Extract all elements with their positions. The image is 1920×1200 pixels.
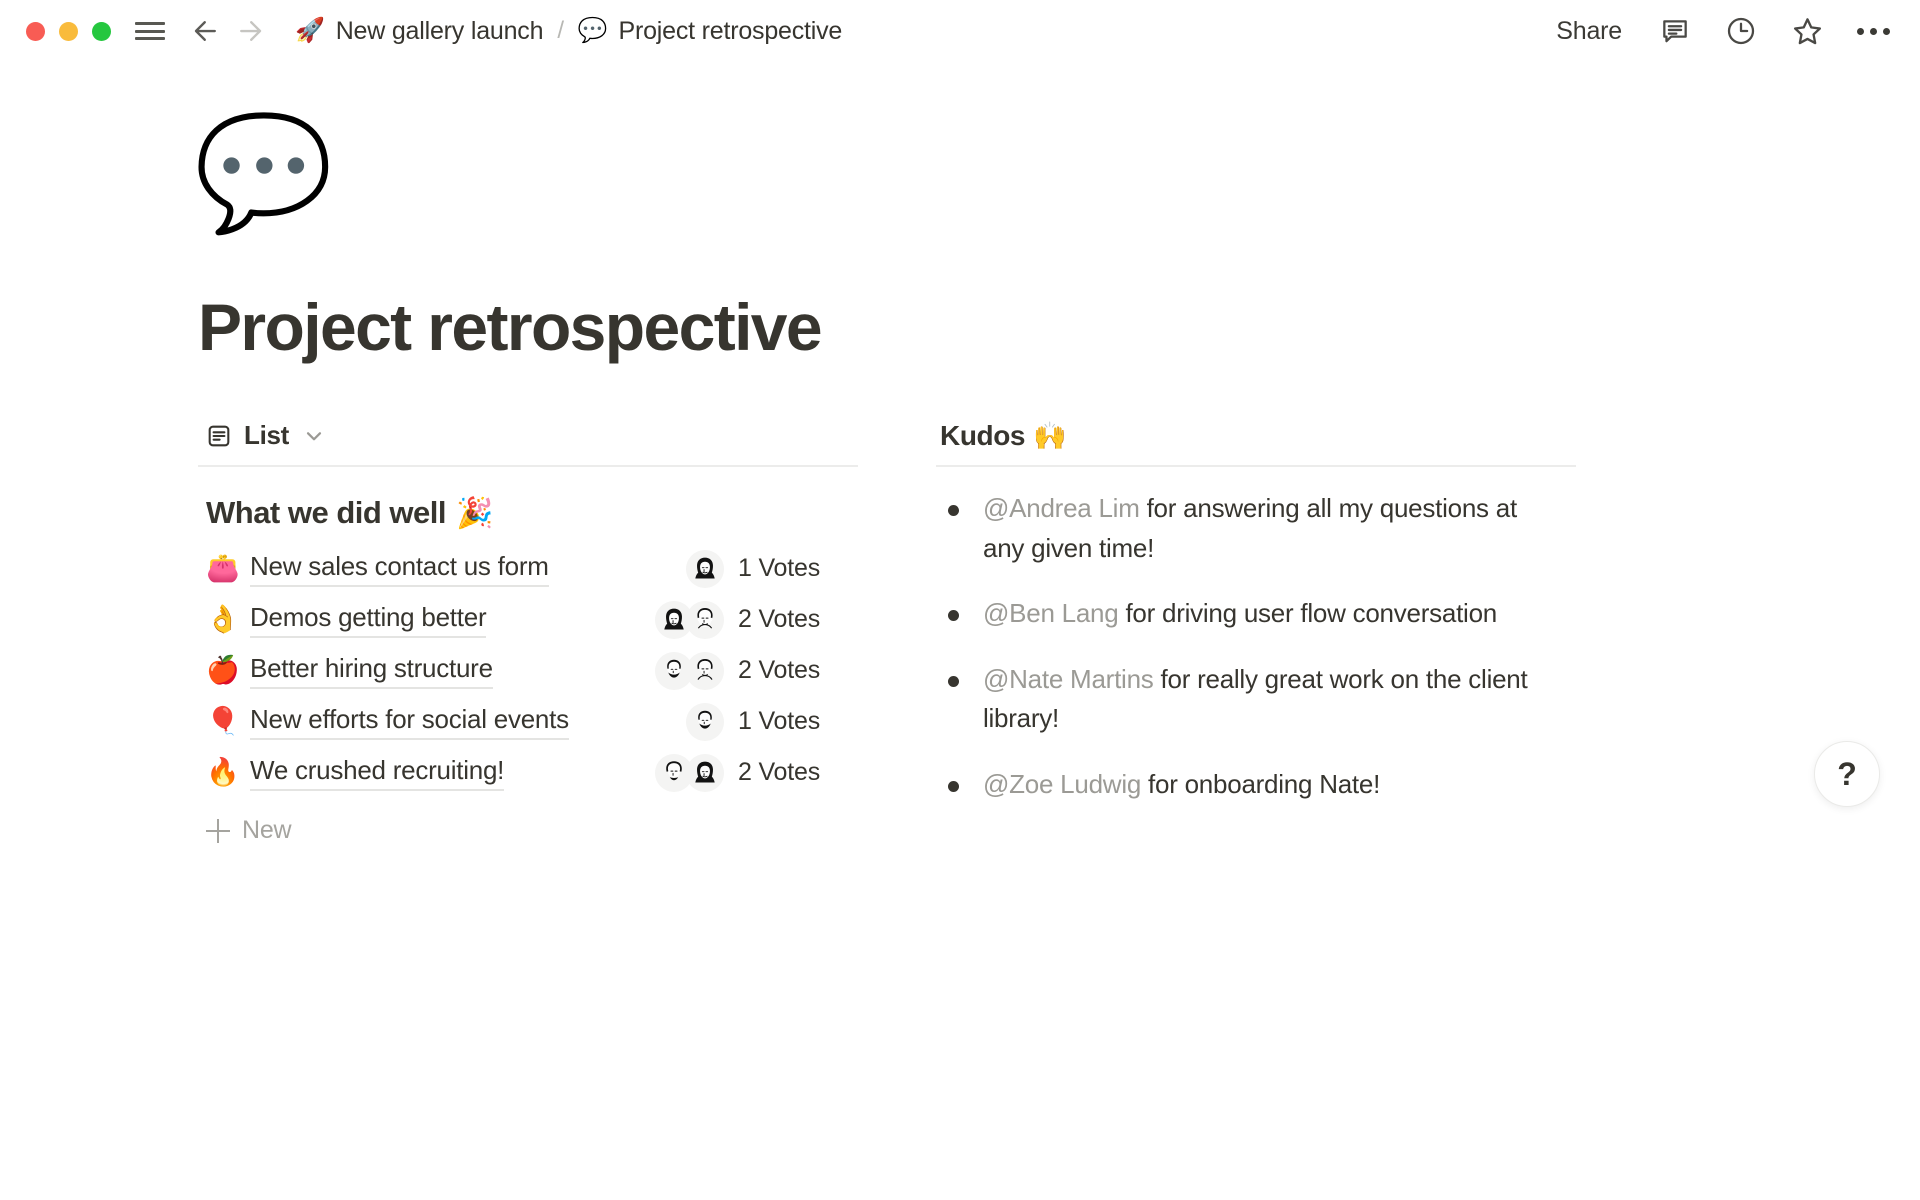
kudos-body: for onboarding Nate! (1141, 769, 1380, 799)
bullet-icon (948, 676, 959, 687)
ok-hand-icon: 👌 (206, 606, 250, 633)
vote-count: 2 Votes (738, 605, 848, 634)
avatar (686, 754, 724, 792)
arrow-left-icon[interactable] (189, 14, 223, 48)
bullet-icon (948, 610, 959, 621)
purse-icon: 👛 (206, 555, 250, 582)
hamburger-menu-icon[interactable] (135, 20, 165, 42)
row-title[interactable]: Better hiring structure (250, 653, 493, 689)
mention-link[interactable]: @Andrea Lim (983, 493, 1140, 523)
mention-link[interactable]: @Ben Lang (983, 598, 1118, 628)
kudos-text: @Ben Lang for driving user flow conversa… (983, 594, 1497, 634)
list-view-icon (206, 423, 232, 449)
table-row[interactable]: 🔥 We crushed recruiting! (198, 747, 858, 798)
kudos-body: for driving user flow conversation (1118, 598, 1497, 628)
chevron-down-icon[interactable] (301, 423, 327, 449)
rocket-icon: 🚀 (295, 19, 325, 43)
kudos-divider (936, 465, 1576, 467)
more-options-icon[interactable] (1855, 22, 1892, 41)
apple-icon: 🍎 (206, 657, 250, 684)
row-title[interactable]: New efforts for social events (250, 704, 569, 740)
vote-count: 2 Votes (738, 656, 848, 685)
kudos-text: @Nate Martins for really great work on t… (983, 660, 1543, 739)
content-columns: List What we did well 🎉 👛 (198, 420, 1770, 845)
kudos-heading-label: Kudos (940, 420, 1025, 452)
breadcrumb: 🚀 New gallery launch / 💬 Project retrosp… (289, 14, 848, 49)
page-title[interactable]: Project retrospective (198, 293, 1770, 362)
bullet-icon (948, 505, 959, 516)
share-button[interactable]: Share (1551, 14, 1627, 49)
column-database: List What we did well 🎉 👛 (198, 420, 858, 845)
breadcrumb-parent-label: New gallery launch (336, 17, 544, 46)
avatar (686, 652, 724, 690)
history-clock-icon[interactable] (1723, 13, 1759, 49)
mention-link[interactable]: @Nate Martins (983, 664, 1154, 694)
breadcrumb-item-current[interactable]: 💬 Project retrospective (572, 14, 848, 49)
list-item: @Zoe Ludwig for onboarding Nate! (948, 765, 1576, 805)
minimize-window-button[interactable] (59, 22, 78, 41)
close-window-button[interactable] (26, 22, 45, 41)
voter-avatars (652, 601, 724, 639)
add-new-label: New (242, 816, 291, 845)
row-title[interactable]: We crushed recruiting! (250, 755, 504, 791)
kudos-list: @Andrea Lim for answering all my questio… (936, 489, 1576, 804)
database-rows: 👛 New sales contact us form 1 Votes (198, 543, 858, 798)
topbar-actions: Share (1551, 13, 1892, 49)
row-title[interactable]: New sales contact us form (250, 551, 549, 587)
avatar (686, 703, 724, 741)
table-row[interactable]: 🎈 New efforts for social events 1 Votes (198, 696, 858, 747)
list-item: @Andrea Lim for answering all my questio… (948, 489, 1576, 568)
voter-avatars (652, 754, 724, 792)
table-row[interactable]: 🍎 Better hiring structure (198, 645, 858, 696)
row-meta: 2 Votes (652, 754, 858, 792)
database-view-selector[interactable]: List (198, 420, 858, 465)
breadcrumb-separator: / (557, 17, 563, 45)
avatar (686, 550, 724, 588)
database-heading-label: What we did well (206, 495, 446, 531)
breadcrumb-current-label: Project retrospective (618, 17, 842, 46)
kudos-text: @Andrea Lim for answering all my questio… (983, 489, 1543, 568)
table-row[interactable]: 👌 Demos getting better 2 (198, 594, 858, 645)
table-row[interactable]: 👛 New sales contact us form 1 Votes (198, 543, 858, 594)
page-content: 💬 Project retrospective List (0, 62, 1920, 845)
maximize-window-button[interactable] (92, 22, 111, 41)
fire-icon: 🔥 (206, 759, 250, 786)
balloon-icon: 🎈 (206, 708, 250, 735)
list-item: @Nate Martins for really great work on t… (948, 660, 1576, 739)
kudos-heading: Kudos 🙌 (936, 420, 1576, 465)
raising-hands-icon: 🙌 (1033, 420, 1066, 452)
comment-icon[interactable] (1657, 13, 1693, 49)
voter-avatars (652, 703, 724, 741)
row-meta: 2 Votes (652, 652, 858, 690)
vote-count: 1 Votes (738, 707, 848, 736)
mention-link[interactable]: @Zoe Ludwig (983, 769, 1141, 799)
view-label: List (244, 420, 289, 451)
party-popper-icon: 🎉 (456, 496, 493, 531)
page-icon[interactable]: 💬 (194, 117, 1770, 257)
arrow-right-icon[interactable] (233, 14, 267, 48)
bullet-icon (948, 781, 959, 792)
row-meta: 2 Votes (652, 601, 858, 639)
plus-icon (206, 819, 230, 843)
vote-count: 2 Votes (738, 758, 848, 787)
help-button[interactable]: ? (1814, 741, 1880, 807)
row-title[interactable]: Demos getting better (250, 602, 486, 638)
window-titlebar: 🚀 New gallery launch / 💬 Project retrosp… (0, 0, 1920, 62)
avatar (686, 601, 724, 639)
add-new-row-button[interactable]: New (198, 798, 858, 845)
star-favorite-icon[interactable] (1789, 13, 1825, 49)
window-controls (26, 22, 111, 41)
speech-balloon-icon: 💬 (578, 19, 608, 43)
row-meta: 1 Votes (652, 703, 858, 741)
column-kudos: Kudos 🙌 @Andrea Lim for answering all my… (936, 420, 1576, 845)
navigation-arrows (189, 14, 267, 48)
vote-count: 1 Votes (738, 554, 848, 583)
kudos-text: @Zoe Ludwig for onboarding Nate! (983, 765, 1380, 805)
voter-avatars (652, 652, 724, 690)
database-heading: What we did well 🎉 (198, 467, 858, 537)
row-meta: 1 Votes (652, 550, 858, 588)
list-item: @Ben Lang for driving user flow conversa… (948, 594, 1576, 634)
breadcrumb-item-parent[interactable]: 🚀 New gallery launch (289, 14, 549, 49)
voter-avatars (652, 550, 724, 588)
